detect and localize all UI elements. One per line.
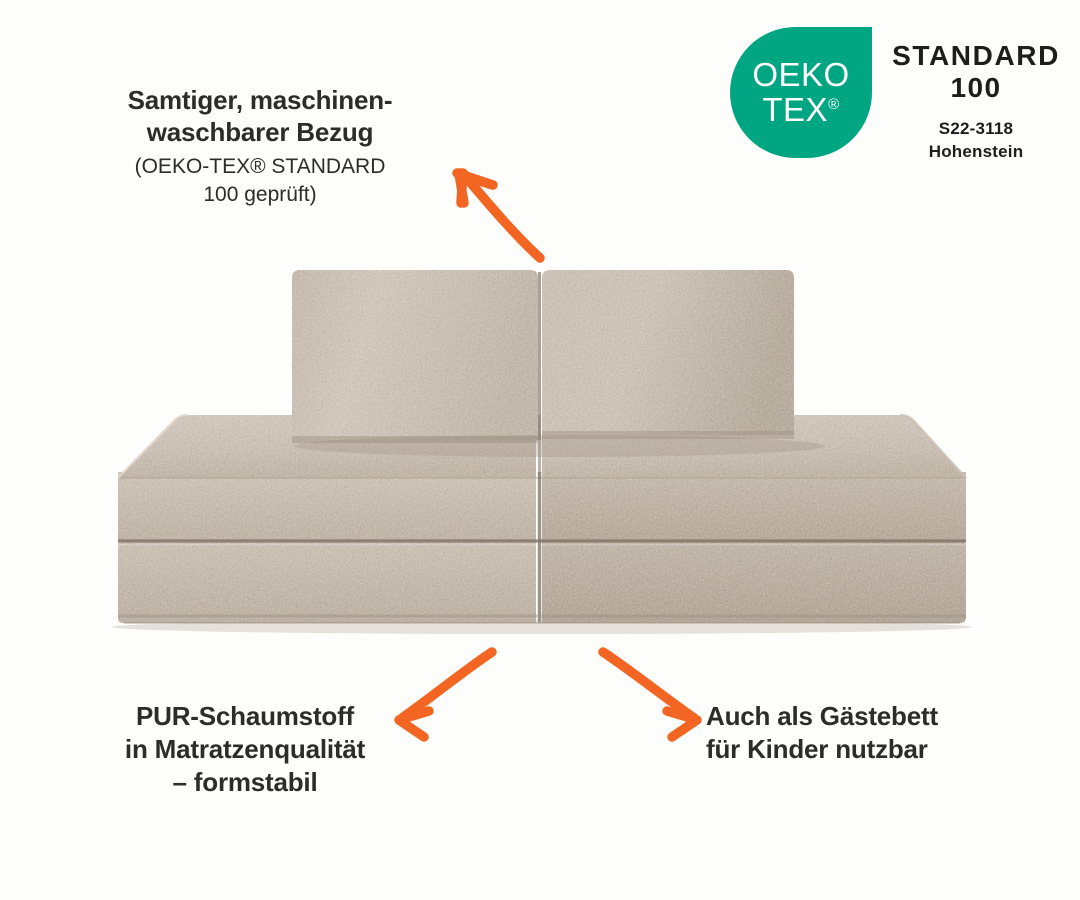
callout-guest-bed-title-line2: für Kinder nutzbar <box>706 733 1026 766</box>
callout-cover-subtitle-line1: (OEKO-TEX® STANDARD <box>60 153 460 180</box>
seat-module-right-front <box>542 472 966 541</box>
oeko-tex-badge: OEKO TEX® <box>730 27 872 158</box>
callout-foam-title-line3: – formstabil <box>55 766 435 799</box>
shadow-ground <box>112 620 972 634</box>
certificate-institute: Hohenstein <box>876 141 1076 164</box>
oeko-tex-logo-text: OEKO TEX® <box>730 27 872 158</box>
callout-foam-title: PUR-Schaumstoff in Matratzenqualität – f… <box>55 700 435 798</box>
callout-foam-title-line1: PUR-Schaumstoff <box>55 700 435 733</box>
oeko-label: OEKO <box>752 58 849 93</box>
base-module-left <box>118 540 536 623</box>
callout-foam: PUR-Schaumstoff in Matratzenqualität – f… <box>55 700 435 798</box>
base-module-right <box>542 540 966 623</box>
callout-cover-subtitle: (OEKO-TEX® STANDARD 100 geprüft) <box>60 153 460 208</box>
product-infographic: OEKO TEX® STANDARD 100 S22-3118 Hohenste… <box>0 0 1080 900</box>
registered-mark: ® <box>828 96 840 113</box>
standard-label: STANDARD <box>876 40 1076 72</box>
callout-cover: Samtiger, maschinen- waschbarer Bezug (O… <box>60 84 460 208</box>
standard-number: 100 <box>876 72 1076 104</box>
sofa-svg <box>0 250 1080 650</box>
callout-guest-bed: Auch als Gästebett für Kinder nutzbar <box>706 700 1026 766</box>
backrest-left <box>292 270 538 440</box>
tex-label: TEX® <box>762 93 839 128</box>
callout-guest-bed-title-line1: Auch als Gästebett <box>706 700 1026 733</box>
callout-cover-subtitle-line2: 100 geprüft) <box>60 181 460 208</box>
callout-guest-bed-title: Auch als Gästebett für Kinder nutzbar <box>706 700 1026 766</box>
seat-module-left-front <box>118 472 536 541</box>
callout-cover-title-line2: waschbarer Bezug <box>60 116 460 148</box>
arrow-to-cover <box>457 173 540 258</box>
tex-text: TEX <box>762 91 828 128</box>
callout-foam-title-line2: in Matratzenqualität <box>55 733 435 766</box>
product-image-sofa <box>0 250 1080 650</box>
certificate-code: S22-3118 <box>876 118 1076 141</box>
backrest-right <box>542 270 794 435</box>
shadow-under-backrest <box>295 435 825 457</box>
arrow-to-guest-bed <box>603 652 697 737</box>
callout-cover-title: Samtiger, maschinen- waschbarer Bezug <box>60 84 460 148</box>
oeko-tex-certificate-info: STANDARD 100 S22-3118 Hohenstein <box>876 40 1076 164</box>
callout-cover-title-line1: Samtiger, maschinen- <box>60 84 460 116</box>
